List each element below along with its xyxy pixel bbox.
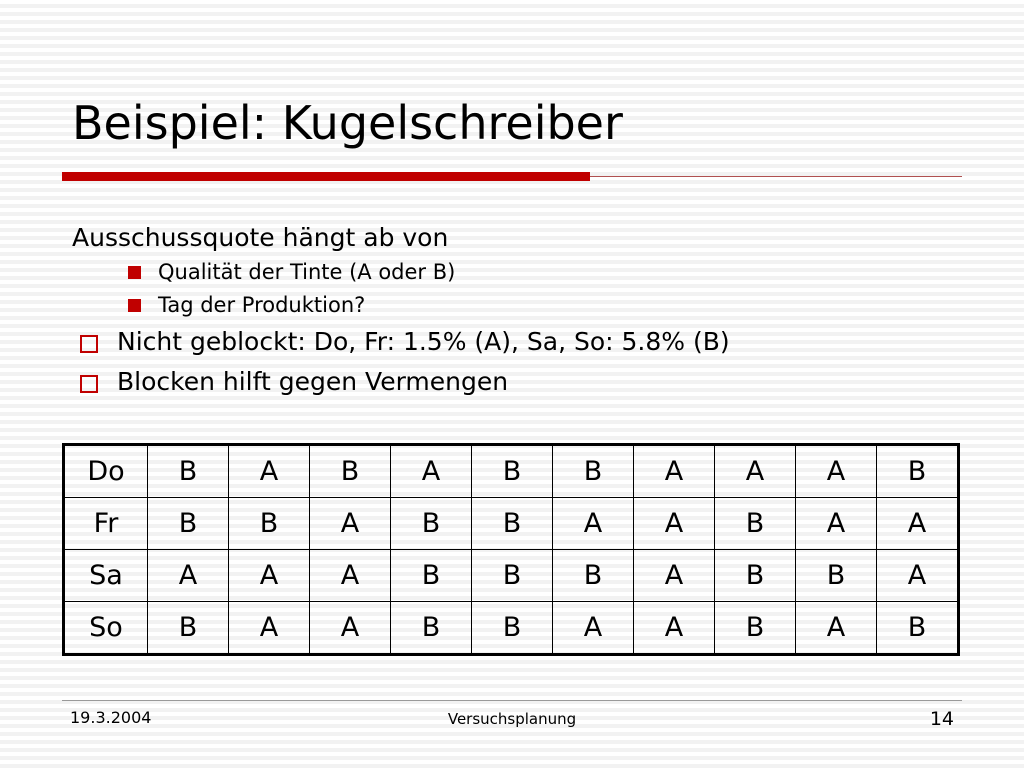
table-cell: A (796, 602, 877, 654)
table-cell: A (877, 550, 958, 602)
list-item: Blocken hilft gegen Vermengen (80, 362, 972, 402)
table-cell: B (148, 446, 229, 498)
table-cell: B (553, 446, 634, 498)
table-cell: B (310, 446, 391, 498)
table-cell: B (391, 602, 472, 654)
list-item: Nicht geblockt: Do, Fr: 1.5% (A), Sa, So… (80, 322, 972, 362)
table-cell: A (553, 498, 634, 550)
table-cell: A (229, 550, 310, 602)
table-cell: B (877, 446, 958, 498)
row-header: Sa (65, 550, 148, 602)
table-cell: A (634, 550, 715, 602)
row-header: Do (65, 446, 148, 498)
table-cell: A (229, 602, 310, 654)
table-cell: B (472, 602, 553, 654)
table-cell: B (796, 550, 877, 602)
list-item: Tag der Produktion? (128, 289, 972, 322)
title-divider-thick (62, 172, 590, 181)
row-header: Fr (65, 498, 148, 550)
slide: Beispiel: Kugelschreiber Ausschussquote … (0, 0, 1024, 768)
table-cell: A (634, 602, 715, 654)
table-cell: B (715, 498, 796, 550)
list-item: Ausschussquote hängt ab von (72, 220, 972, 256)
table-cell: B (715, 550, 796, 602)
table-cell: B (229, 498, 310, 550)
table-cell: A (229, 446, 310, 498)
table-cell: A (391, 446, 472, 498)
hollow-square-icon (80, 375, 98, 393)
list-item-label: Nicht geblockt: Do, Fr: 1.5% (A), Sa, So… (117, 322, 730, 362)
table-cell: B (553, 550, 634, 602)
schedule-table: Do B A B A B B A A A B Fr B B A B B A A (65, 446, 957, 653)
table-cell: B (472, 446, 553, 498)
footer-page-number: 14 (930, 708, 954, 730)
hollow-square-icon (80, 335, 98, 353)
filled-square-icon (128, 266, 141, 279)
table-cell: B (148, 498, 229, 550)
table-cell: A (148, 550, 229, 602)
table-row: Sa A A A B B B A B B A (65, 550, 957, 602)
list-item-label: Qualität der Tinte (A oder B) (158, 256, 455, 289)
filled-square-icon (128, 299, 141, 312)
table-cell: A (796, 498, 877, 550)
table-cell: A (796, 446, 877, 498)
schedule-table-wrapper: Do B A B A B B A A A B Fr B B A B B A A (62, 443, 960, 656)
table-cell: B (472, 498, 553, 550)
table-cell: A (310, 498, 391, 550)
table-row: Fr B B A B B A A B A A (65, 498, 957, 550)
table-cell: A (715, 446, 796, 498)
bullet-list: Ausschussquote hängt ab von Qualität der… (72, 220, 972, 402)
row-header: So (65, 602, 148, 654)
table-row: So B A A B B A A B A B (65, 602, 957, 654)
table-cell: B (148, 602, 229, 654)
list-item-label: Blocken hilft gegen Vermengen (117, 362, 508, 402)
table-row: Do B A B A B B A A A B (65, 446, 957, 498)
table-cell: B (715, 602, 796, 654)
footer-title: Versuchsplanung (62, 710, 962, 728)
table-cell: B (391, 498, 472, 550)
table-cell: B (472, 550, 553, 602)
list-item-label: Tag der Produktion? (158, 289, 365, 322)
list-item: Qualität der Tinte (A oder B) (128, 256, 972, 289)
page-title: Beispiel: Kugelschreiber (72, 96, 623, 150)
table-cell: A (310, 550, 391, 602)
title-divider (62, 172, 962, 182)
table-cell: A (310, 602, 391, 654)
table-cell: A (877, 498, 958, 550)
table-cell: B (391, 550, 472, 602)
table-cell: A (634, 446, 715, 498)
table-cell: B (877, 602, 958, 654)
footer: 19.3.2004 Versuchsplanung 14 (62, 704, 962, 732)
table-cell: A (634, 498, 715, 550)
table-cell: A (553, 602, 634, 654)
footer-divider (62, 700, 962, 701)
